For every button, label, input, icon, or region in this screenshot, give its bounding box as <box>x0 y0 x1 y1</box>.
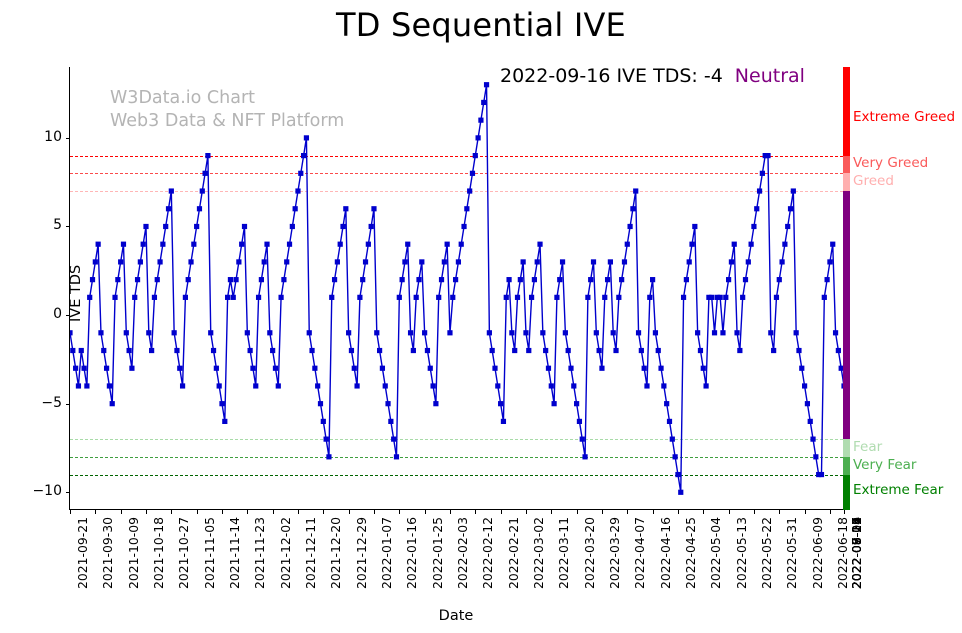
y-axis-label: IVE TDS <box>68 265 84 322</box>
y-tick-label: −5 <box>18 395 62 411</box>
zone-segment-greed <box>843 173 850 191</box>
x-tick-mark <box>146 510 147 514</box>
x-tick-mark <box>678 510 679 514</box>
x-tick-mark <box>323 510 324 514</box>
x-tick-mark <box>399 510 400 514</box>
zone-color-bar <box>843 67 850 510</box>
zone-label-very-fear: Very Fear <box>853 457 916 473</box>
zone-label-greed: Greed <box>853 173 894 189</box>
x-tick-mark <box>653 510 654 514</box>
y-tick-mark <box>66 492 70 493</box>
zone-segment-extreme-greed <box>843 67 850 156</box>
x-tick-mark <box>703 510 704 514</box>
x-tick-label: 2022-01-25 <box>430 517 445 589</box>
x-tick-label: 2022-05-04 <box>708 517 723 589</box>
x-tick-mark <box>374 510 375 514</box>
x-axis-label: Date <box>0 608 912 624</box>
x-tick-mark <box>425 510 426 514</box>
x-tick-mark <box>349 510 350 514</box>
x-tick-mark <box>197 510 198 514</box>
x-tick-mark <box>754 510 755 514</box>
x-tick-mark <box>475 510 476 514</box>
y-tick-mark <box>66 138 70 139</box>
tds-line-series <box>70 67 843 509</box>
x-tick-mark <box>551 510 552 514</box>
y-tick-mark <box>66 404 70 405</box>
x-tick-label: 2022-03-02 <box>531 517 546 589</box>
x-tick-label: 2022-02-03 <box>455 517 470 589</box>
x-tick-label: 2022-05-22 <box>759 517 774 589</box>
x-tick-label: 2021-11-14 <box>227 517 242 589</box>
x-tick-label: 2021-09-30 <box>100 517 115 589</box>
page-title: TD Sequential IVE <box>0 6 962 44</box>
x-tick-mark <box>95 510 96 514</box>
x-tick-label: 2022-06-09 <box>810 517 825 589</box>
y-tick-mark <box>66 226 70 227</box>
x-tick-mark <box>830 510 831 514</box>
series-clip <box>70 67 843 509</box>
zone-label-fear: Fear <box>853 439 882 455</box>
x-tick-mark <box>779 510 780 514</box>
chart-root: TD Sequential IVE W3Data.io Chart Web3 D… <box>0 0 962 633</box>
x-tick-mark <box>273 510 274 514</box>
y-tick-label: 0 <box>18 306 62 322</box>
zone-label-very-greed: Very Greed <box>853 155 928 171</box>
x-tick-mark <box>501 510 502 514</box>
x-tick-mark <box>222 510 223 514</box>
x-tick-label: 2022-04-25 <box>683 517 698 589</box>
x-tick-mark <box>247 510 248 514</box>
zone-segment-extreme-fear <box>843 475 850 510</box>
x-tick-mark <box>171 510 172 514</box>
x-tick-label: 2021-10-18 <box>151 517 166 589</box>
x-tick-label: 2021-10-27 <box>176 517 191 589</box>
y-tick-label: −10 <box>18 483 62 499</box>
x-tick-label: 2022-01-16 <box>404 517 419 589</box>
x-tick-label: 2022-02-21 <box>506 517 521 589</box>
x-tick-mark <box>627 510 628 514</box>
x-tick-mark <box>70 510 71 514</box>
x-tick-label: 2021-12-29 <box>354 517 369 589</box>
x-tick-label: 2021-10-09 <box>126 517 141 589</box>
zone-segment-fear <box>843 439 850 457</box>
x-tick-label: 2021-09-21 <box>75 517 90 589</box>
x-tick-label: 2022-03-20 <box>582 517 597 589</box>
x-tick-label: 2022-04-07 <box>632 517 647 589</box>
y-tick-label: 10 <box>18 129 62 145</box>
x-tick-label: 2021-12-02 <box>278 517 293 589</box>
x-tick-label: 2022-03-29 <box>607 517 622 589</box>
x-tick-mark <box>298 510 299 514</box>
x-tick-label: 2022-09-16 <box>849 517 864 589</box>
y-tick-label: 5 <box>18 217 62 233</box>
zone-label-extreme-fear: Extreme Fear <box>853 482 943 498</box>
x-tick-label: 2021-12-20 <box>328 517 343 589</box>
x-tick-label: 2022-01-07 <box>379 517 394 589</box>
zone-label-extreme-greed: Extreme Greed <box>853 109 955 125</box>
x-tick-mark <box>577 510 578 514</box>
x-tick-label: 2022-05-13 <box>734 517 749 589</box>
x-tick-mark <box>729 510 730 514</box>
x-tick-label: 2021-11-05 <box>202 517 217 589</box>
x-tick-label: 2022-04-16 <box>658 517 673 589</box>
x-tick-label: 2022-05-31 <box>784 517 799 589</box>
x-tick-mark <box>450 510 451 514</box>
x-tick-label: 2022-06-18 <box>835 517 850 589</box>
zone-segment-very-fear <box>843 457 850 475</box>
x-tick-mark <box>602 510 603 514</box>
zone-segment-neutral <box>843 191 850 439</box>
x-tick-mark <box>526 510 527 514</box>
zone-segment-very-greed <box>843 156 850 174</box>
x-tick-mark <box>805 510 806 514</box>
x-tick-label: 2021-12-11 <box>303 517 318 589</box>
x-tick-mark <box>121 510 122 514</box>
plot-area: W3Data.io Chart Web3 Data & NFT Platform… <box>69 67 843 510</box>
x-tick-mark <box>844 510 845 514</box>
x-tick-label: 2022-03-11 <box>556 517 571 589</box>
x-tick-label: 2022-02-12 <box>480 517 495 589</box>
x-tick-label: 2021-11-23 <box>252 517 267 589</box>
